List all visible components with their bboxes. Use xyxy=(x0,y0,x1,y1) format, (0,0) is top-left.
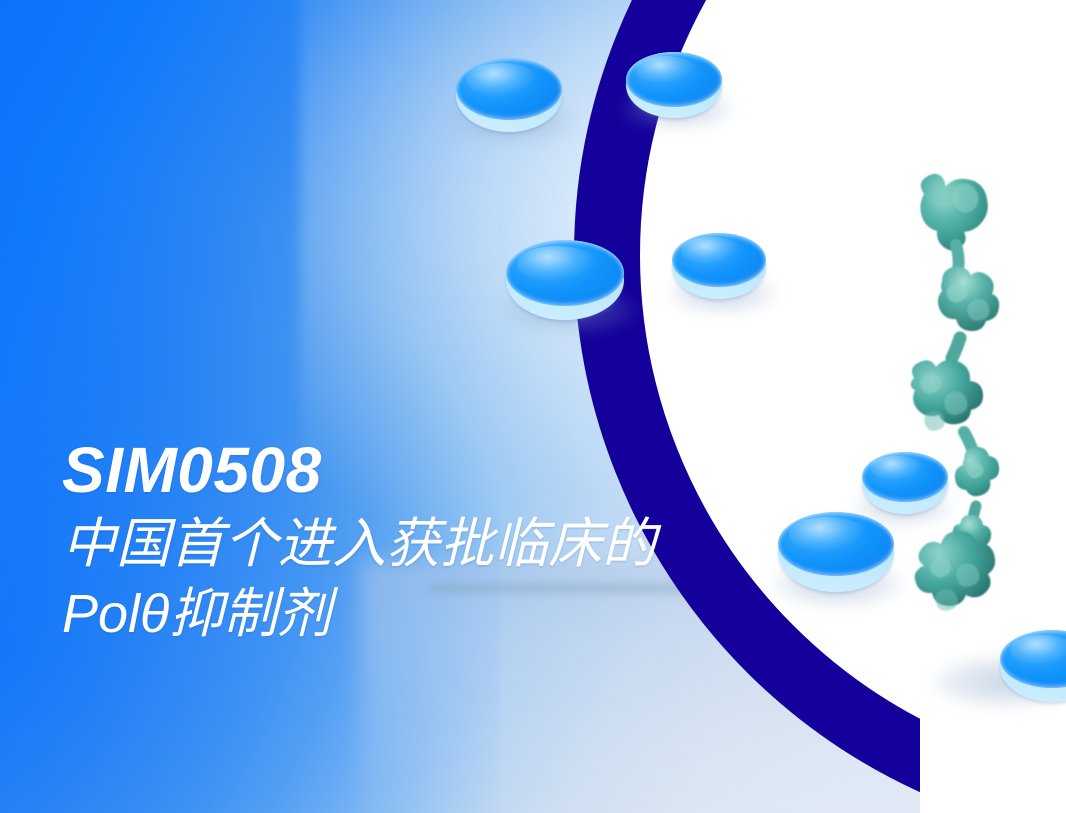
subtitle-line-2: Polθ抑制剂 xyxy=(62,579,882,649)
tablet-bottom-right xyxy=(1000,630,1066,702)
tablet-face xyxy=(506,240,624,306)
poster-canvas: SIM0508 中国首个进入获批临床的 Polθ抑制剂 xyxy=(0,0,1066,813)
headline-block: SIM0508 中国首个进入获批临床的 Polθ抑制剂 xyxy=(62,438,882,650)
tablet-top-left xyxy=(456,58,562,132)
subtitle-line-1: 中国首个进入获批临床的 xyxy=(62,514,656,574)
tablet-mid-right xyxy=(672,233,766,299)
tablet-top-right xyxy=(626,52,722,118)
tablet-face xyxy=(672,233,766,287)
tablet-face xyxy=(456,58,562,120)
tablet-mid-left xyxy=(506,240,624,320)
product-code-title: SIM0508 xyxy=(62,438,882,503)
protein-chain-icon xyxy=(880,160,1066,580)
subtitle-block: 中国首个进入获批临床的 Polθ抑制剂 xyxy=(62,509,882,649)
tablet-face xyxy=(626,52,722,107)
